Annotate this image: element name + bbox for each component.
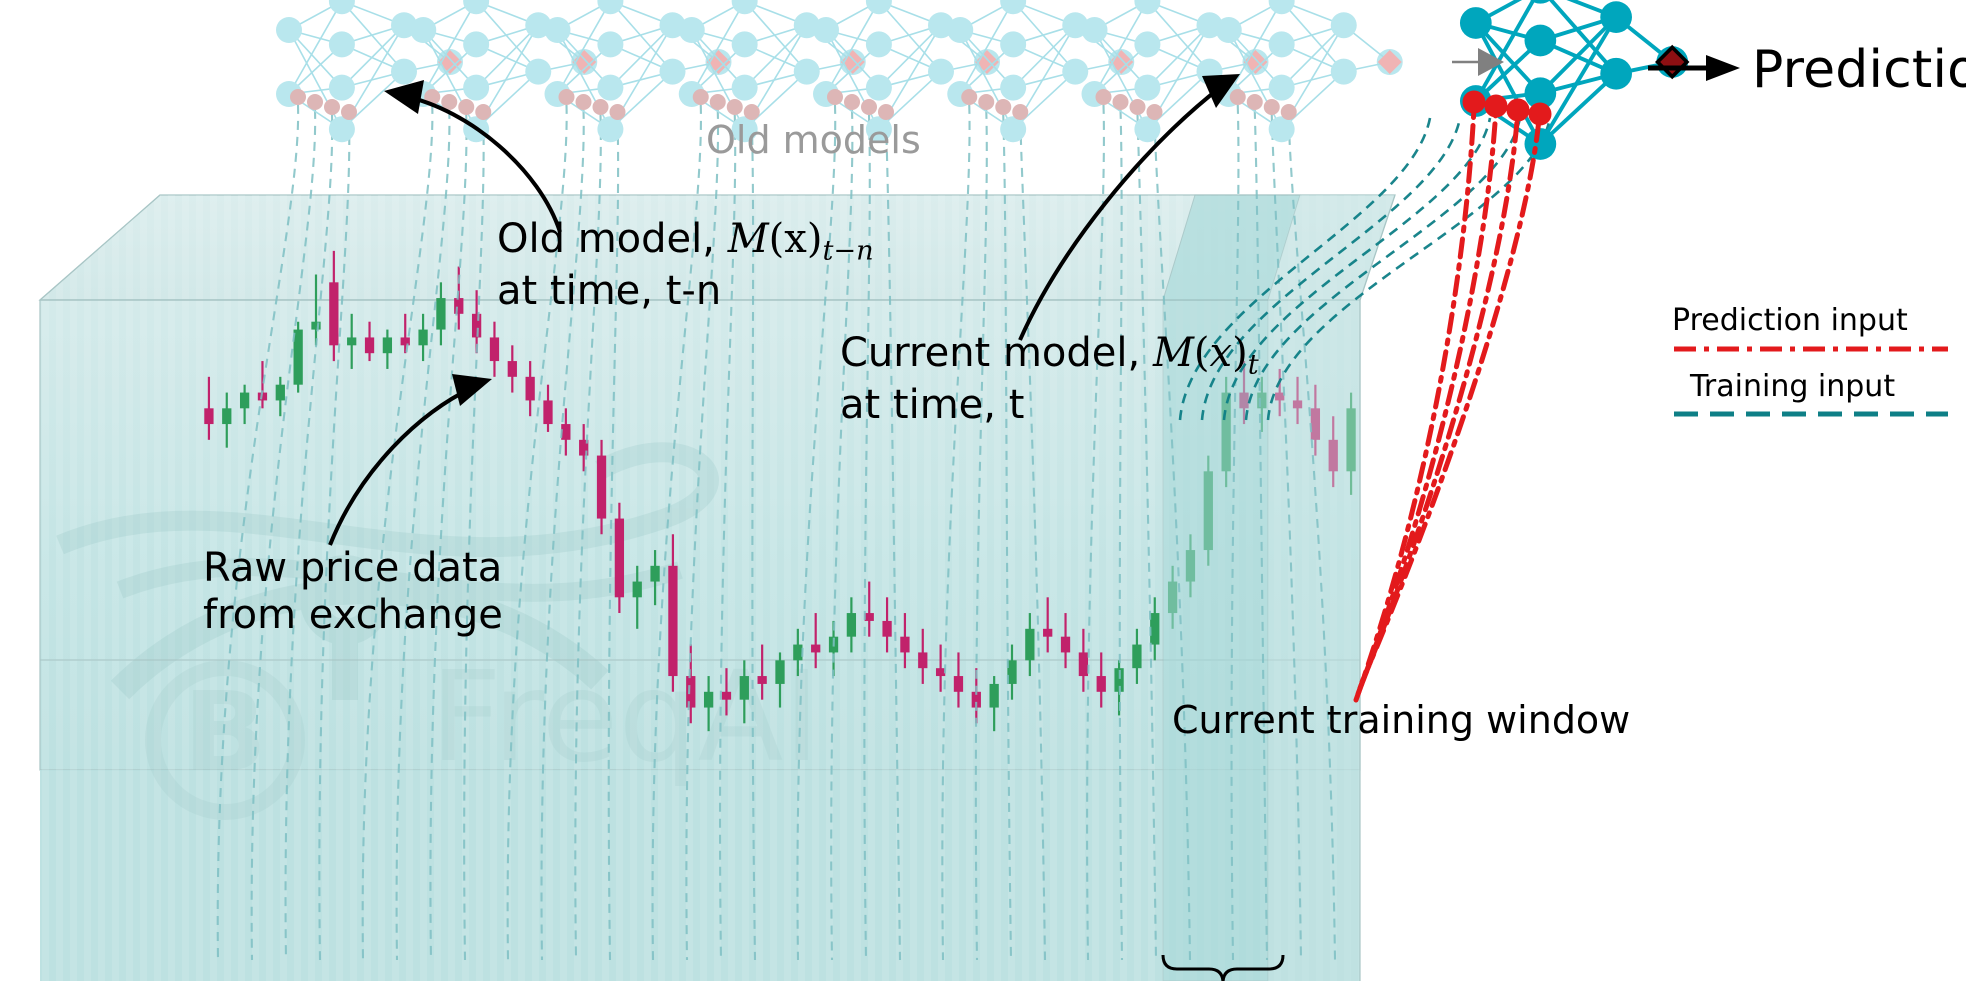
annotation-current-model-x: (x) — [1194, 330, 1248, 376]
legend-label-training-input: Training input — [1690, 369, 1895, 404]
annotation-raw-price-data-line1: Raw price data — [203, 545, 503, 592]
diagram-canvas: B FreqAI — [0, 0, 1966, 981]
annotation-current-model-prefix: Current model, — [840, 330, 1153, 376]
legend-label-prediction-input: Prediction input — [1672, 303, 1908, 338]
prediction-label: Prediction — [1752, 40, 1966, 100]
annotation-old-model: Old model, M(x)t−n at time, t-n — [497, 216, 874, 315]
annotation-raw-price-data-line2: from exchange — [203, 592, 503, 639]
annotation-old-model-x: (x) — [769, 216, 823, 262]
callout-arrow-raw-price-data — [330, 374, 492, 545]
annotation-current-model-sub: t — [1248, 350, 1259, 381]
annotation-current-model-M: M — [1153, 330, 1194, 376]
annotation-old-model-prefix: Old model, — [497, 216, 728, 262]
old-models-label: Old models — [706, 118, 921, 162]
prediction-input-curves — [1356, 93, 1549, 700]
annotation-current-model: Current model, M(x)t at time, t — [840, 330, 1259, 429]
annotation-raw-price-data: Raw price data from exchange — [203, 545, 503, 639]
annotation-current-model-line2: at time, t — [840, 382, 1259, 429]
annotation-old-model-M: M — [728, 216, 769, 262]
models-layer — [0, 0, 1966, 981]
annotation-old-model-sub: t−n — [822, 236, 873, 267]
callout-arrow-current-model — [1020, 74, 1240, 340]
annotation-old-model-line2: at time, t-n — [497, 268, 874, 315]
training-window-brace — [1163, 955, 1283, 981]
current-training-window-label: Current training window — [1172, 698, 1630, 742]
